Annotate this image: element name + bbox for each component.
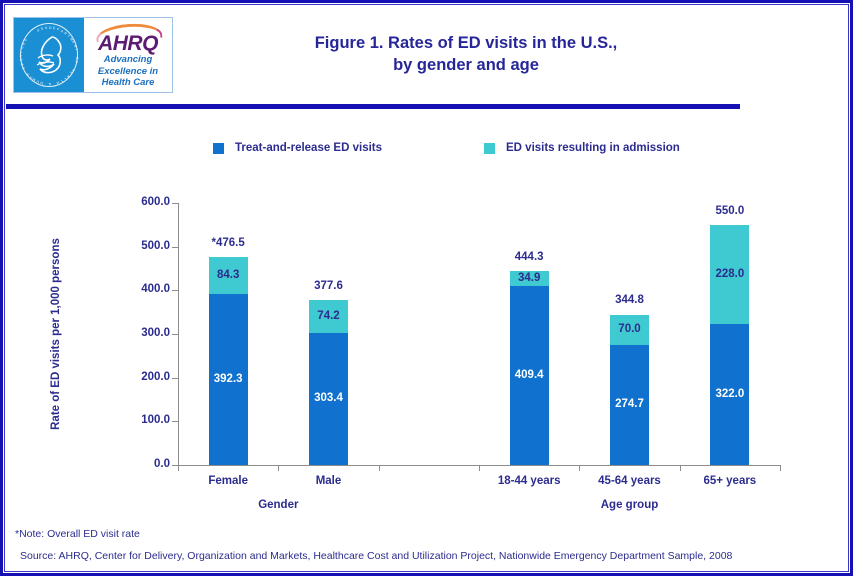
ahrq-logo: DEPARTMENT OF HEALTH & HUMAN SERVICES · … — [13, 17, 173, 93]
bar-total-label: 444.3 — [515, 251, 544, 263]
x-axis-tick — [780, 465, 781, 471]
y-axis-tick-label: 100.0 — [110, 414, 170, 426]
bar-segment-value: 34.9 — [518, 273, 540, 285]
bar-segment-value: 409.4 — [515, 370, 544, 382]
y-axis-tick-label: 600.0 — [110, 196, 170, 208]
x-axis-category-label: Male — [316, 475, 342, 487]
bar-segment-value: 228.0 — [715, 269, 744, 281]
y-axis-tick — [172, 247, 178, 248]
legend-swatch-icon — [213, 143, 224, 154]
x-axis-tick — [379, 465, 380, 471]
y-axis-tick — [172, 421, 178, 422]
ahrq-tagline: Advancing Excellence in Health Care — [84, 54, 172, 89]
bar-segment-value: 74.2 — [317, 311, 339, 323]
legend-item-0[interactable]: Treat-and-release ED visits — [213, 142, 382, 154]
x-axis-tick — [479, 465, 480, 471]
ahrq-brand-text: AHRQ — [84, 32, 172, 56]
y-axis-tick-label: 0.0 — [110, 458, 170, 470]
figure-title-line1: Figure 1. Rates of ED visits in the U.S.… — [186, 32, 746, 54]
figure-title-line2: by gender and age — [186, 54, 746, 76]
y-axis-tick-label: 400.0 — [110, 283, 170, 295]
legend-label: Treat-and-release ED visits — [235, 142, 382, 154]
y-axis-tick — [172, 203, 178, 204]
bar-segment-treat-release[interactable]: 303.4 — [309, 333, 348, 465]
chart-region: Treat-and-release ED visitsED visits res… — [0, 112, 853, 522]
x-axis-category-label: Female — [208, 475, 248, 487]
bar-total-label: *476.5 — [212, 237, 245, 249]
bar-stack[interactable]: 228.0322.0 — [710, 225, 749, 465]
bar-segment-admission[interactable]: 228.0 — [710, 225, 749, 325]
bar-segment-value: 84.3 — [217, 270, 239, 282]
y-axis-tick-label: 200.0 — [110, 371, 170, 383]
y-axis-title: Rate of ED visits per 1,000 persons — [50, 238, 62, 430]
y-axis-tick — [172, 334, 178, 335]
bar-segment-treat-release[interactable]: 392.3 — [209, 294, 248, 465]
ahrq-tagline-line3: Health Care — [84, 77, 172, 89]
bar-segment-treat-release[interactable]: 322.0 — [710, 324, 749, 465]
footnote-source: Source: AHRQ, Center for Delivery, Organ… — [20, 550, 732, 562]
bar-stack[interactable]: 70.0274.7 — [610, 315, 649, 466]
x-axis-category-label: 65+ years — [703, 475, 756, 487]
y-axis-tick — [172, 290, 178, 291]
hhs-seal-icon: DEPARTMENT OF HEALTH & HUMAN SERVICES · … — [14, 18, 84, 92]
x-axis-category-label: 45-64 years — [598, 475, 661, 487]
bar-stack[interactable]: 84.3392.3 — [209, 257, 248, 465]
figure-header: DEPARTMENT OF HEALTH & HUMAN SERVICES · … — [6, 6, 847, 104]
plot-area: Rate of ED visits per 1,000 persons 600.… — [178, 203, 780, 465]
y-axis-tick-label: 500.0 — [110, 240, 170, 252]
footnote-note: *Note: Overall ED visit rate — [15, 528, 140, 540]
bar-segment-admission[interactable]: 70.0 — [610, 315, 649, 346]
x-axis-tick — [579, 465, 580, 471]
hhs-seal-ring-text: DEPARTMENT OF HEALTH & HUMAN SERVICES · … — [14, 18, 84, 92]
bar-segment-value: 322.0 — [715, 389, 744, 401]
x-axis-group-label: Age group — [601, 499, 659, 511]
legend-label: ED visits resulting in admission — [506, 142, 680, 154]
bar-segment-value: 70.0 — [618, 324, 640, 336]
ahrq-wordmark: AHRQ Advancing Excellence in Health Care — [84, 18, 172, 92]
bar-total-label: 344.8 — [615, 294, 644, 306]
bar-segment-treat-release[interactable]: 409.4 — [510, 286, 549, 465]
bar-segment-treat-release[interactable]: 274.7 — [610, 345, 649, 465]
bar-segment-admission[interactable]: 84.3 — [209, 257, 248, 294]
bar-stack[interactable]: 74.2303.4 — [309, 300, 348, 465]
bar-total-label: 550.0 — [715, 205, 744, 217]
y-axis-tick — [172, 378, 178, 379]
bar-segment-admission[interactable]: 34.9 — [510, 271, 549, 286]
bar-segment-value: 392.3 — [214, 374, 243, 386]
bar-segment-value: 274.7 — [615, 399, 644, 411]
header-divider — [6, 104, 740, 109]
bar-segment-value: 303.4 — [314, 393, 343, 405]
bar-stack[interactable]: 34.9409.4 — [510, 271, 549, 465]
legend-swatch-icon — [484, 143, 495, 154]
ahrq-tagline-line1: Advancing — [84, 54, 172, 66]
x-axis-tick — [278, 465, 279, 471]
ahrq-tagline-line2: Excellence in — [84, 66, 172, 78]
x-axis-tick — [680, 465, 681, 471]
x-axis-category-label: 18-44 years — [498, 475, 561, 487]
x-axis-group-label: Gender — [258, 499, 298, 511]
chart-legend: Treat-and-release ED visitsED visits res… — [0, 142, 853, 164]
figure-page: DEPARTMENT OF HEALTH & HUMAN SERVICES · … — [0, 0, 853, 576]
y-axis-tick-label: 300.0 — [110, 327, 170, 339]
bar-segment-admission[interactable]: 74.2 — [309, 300, 348, 332]
legend-item-1[interactable]: ED visits resulting in admission — [484, 142, 680, 154]
y-axis-line — [178, 203, 179, 465]
figure-title: Figure 1. Rates of ED visits in the U.S.… — [186, 32, 746, 76]
bar-total-label: 377.6 — [314, 280, 343, 292]
x-axis-tick — [178, 465, 179, 471]
figure-footnotes: *Note: Overall ED visit rate Source: AHR… — [7, 524, 847, 570]
